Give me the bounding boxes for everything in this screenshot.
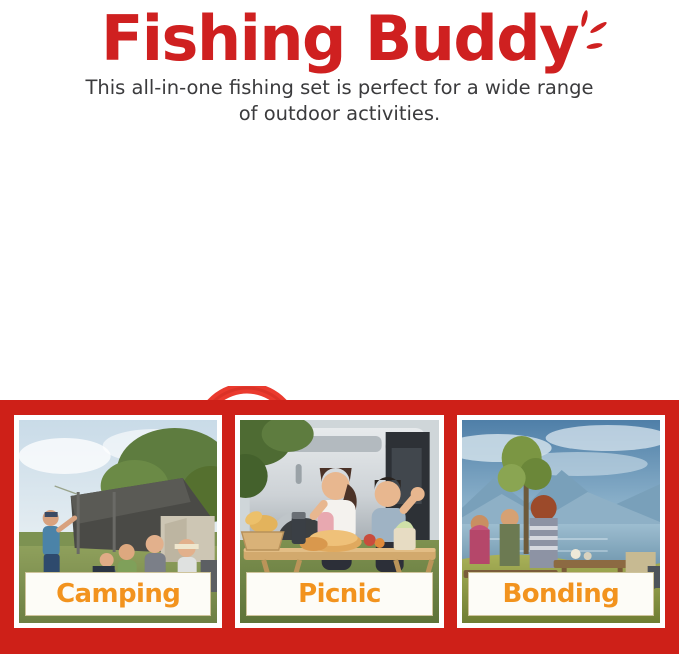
activity-label-plate: Camping [25, 572, 211, 616]
sparkle-dash [589, 20, 608, 34]
sparkle-dash [586, 42, 603, 50]
sparkle-burst-icon [570, 8, 616, 60]
activity-label: Camping [56, 581, 180, 607]
activity-card-camping[interactable]: Camping [14, 415, 222, 628]
activity-label-plate: Picnic [246, 572, 432, 616]
page-title: Fishing Buddy [101, 6, 578, 71]
product-showcase: DaddyGofish [0, 180, 679, 400]
title-block: Fishing Buddy [101, 6, 578, 71]
sparkle-dash [580, 10, 589, 28]
page-subtitle: This all-in-one fishing set is perfect f… [80, 75, 600, 128]
activity-label-plate: Bonding [468, 572, 654, 616]
activity-band: Camping [0, 400, 679, 654]
product-infographic: Fishing Buddy This all-in-one fishing se… [0, 0, 679, 654]
header: Fishing Buddy This all-in-one fishing se… [0, 0, 679, 150]
activity-card-bonding[interactable]: Bonding [457, 415, 665, 628]
activity-card-list: Camping [14, 415, 665, 628]
activity-label: Bonding [503, 581, 620, 607]
activity-label: Picnic [298, 581, 381, 607]
activity-card-picnic[interactable]: Picnic [235, 415, 443, 628]
